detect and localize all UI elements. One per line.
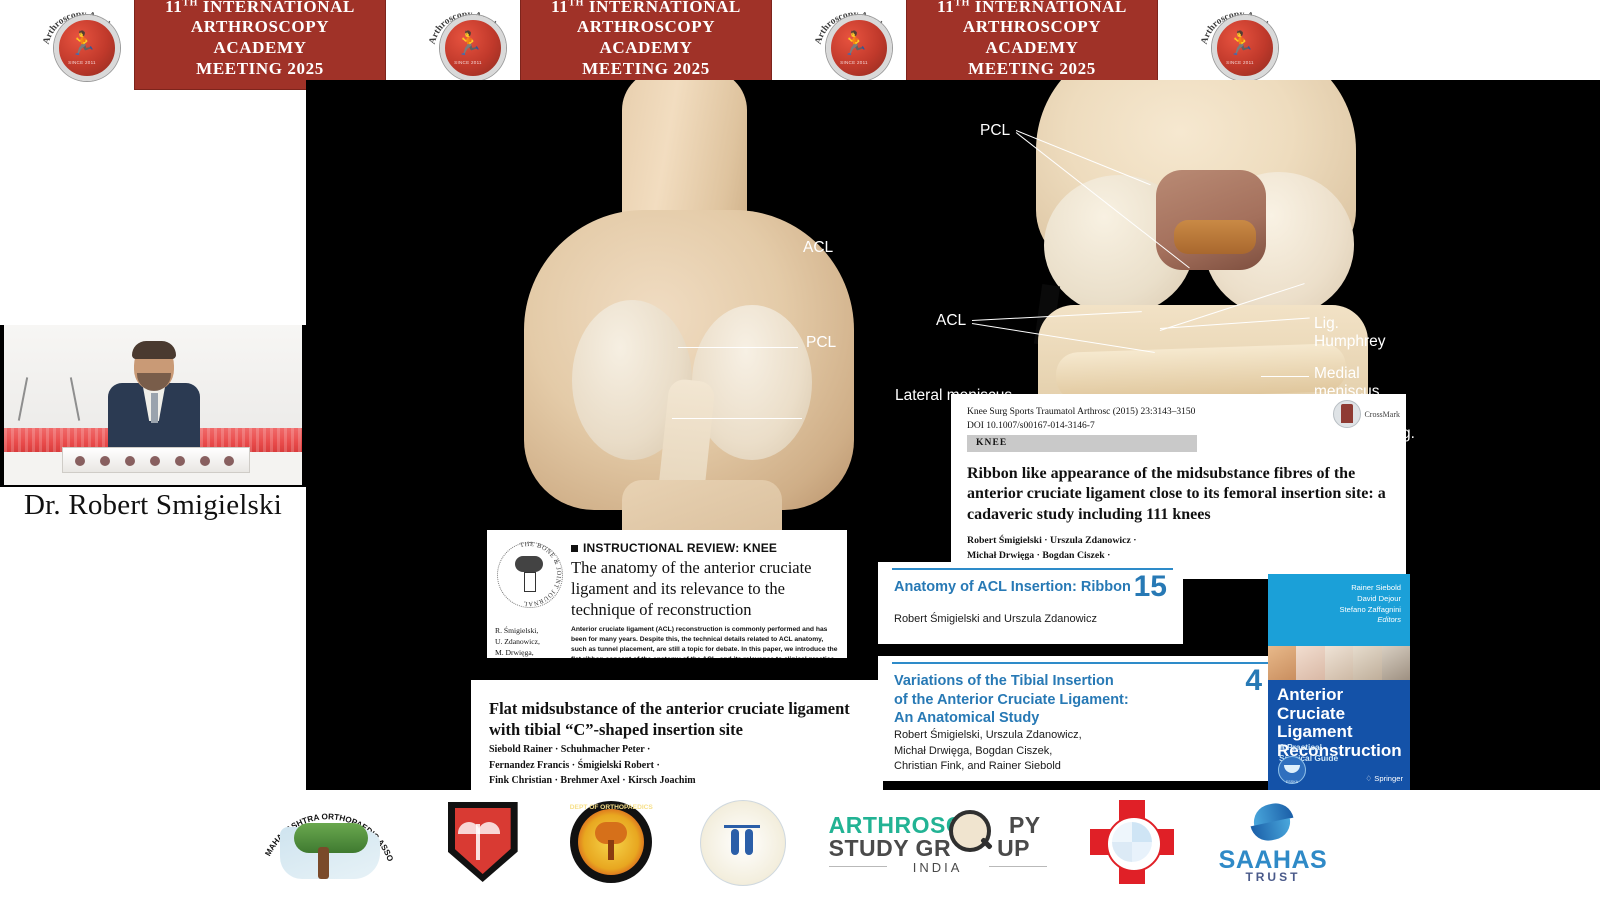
saahas-swirl-icon [1248, 802, 1296, 846]
label-pcl-right: PCL [980, 122, 1010, 140]
podium-logo-row [68, 455, 242, 466]
kssta-authors: Robert Śmigielski · Urszula Zdanowicz · … [967, 534, 1267, 563]
asgi-country: INDIA [829, 860, 1047, 875]
speaker-video-feed[interactable] [4, 325, 302, 485]
bjj-kicker: INSTRUCTIONAL REVIEW: KNEE [571, 541, 777, 555]
bone-joint-journal-logo-icon: THE BONE & JOINT JOURNAL [495, 540, 563, 608]
arthroscopy-academy-logo-icon: Arthroscopy Academy 🏃 SINCE 2011 [1198, 3, 1282, 75]
esska-logo-icon: ESSKA [1278, 756, 1306, 784]
bjj-title: The anatomy of the anterior cruciate lig… [571, 558, 843, 620]
logo-saahas-trust: SAAHAS TRUST [1218, 802, 1328, 882]
logo-red-cross-hospital [1088, 798, 1176, 886]
chapter15-title: Anatomy of ACL Insertion: Ribbon [894, 578, 1131, 597]
label-lig-humphrey: Lig. Humphrey [1314, 315, 1386, 351]
banner-title-2: 11TH INTERNATIONAL ARTHROSCOPY ACADEMY M… [520, 0, 772, 90]
book-editors: Rainer Siebold David Dejour Stefano Zaff… [1340, 583, 1402, 626]
speaker-figure [108, 343, 200, 452]
paper-card-bone-joint-journal[interactable]: THE BONE & JOINT JOURNAL INSTRUCTIONAL R… [487, 530, 847, 658]
chapter15-authors: Robert Śmigielski and Urszula Zdanowicz [894, 612, 1097, 628]
chapter4-title: Variations of the Tibial Insertion of th… [894, 672, 1129, 728]
label-pcl-left: PCL [806, 334, 836, 352]
springer-label: ♢ Springer [1365, 774, 1403, 783]
slide-mask-1 [1180, 569, 1275, 637]
bjj-abstract: Anterior cruciate ligament (ACL) reconst… [571, 625, 839, 658]
saahas-subtitle: TRUST [1218, 870, 1328, 884]
leader-line-medial-meniscus [1261, 376, 1309, 377]
banner-title-3: 11TH INTERNATIONAL ARTHROSCOPY ACADEMY M… [906, 0, 1158, 90]
chapter-card-4[interactable]: Variations of the Tibial Insertion of th… [878, 656, 1278, 781]
banner-unit-1: Arthroscopy Academy 🏃 SINCE 2011 11TH IN… [0, 0, 386, 78]
kssta-meta: Knee Surg Sports Traumatol Arthrosc (201… [967, 405, 1195, 434]
logo-subtext: SINCE 2011 [426, 60, 510, 65]
logo-dept-of-orthopaedics: DEPT OF ORTHOPAEDICS [567, 798, 655, 886]
presentation-screen: Arthroscopy Academy 🏃 SINCE 2011 11TH IN… [0, 0, 1600, 900]
speaker-name-label: Dr. Robert Smigielski [0, 487, 306, 523]
slide-canvas[interactable]: ACL ACL PCL PCL ACL Lateral meniscus Lig… [306, 80, 1600, 790]
logo-osmamer-shield [440, 798, 526, 886]
chapter-rule [892, 662, 1268, 664]
paper-card-flat-midsubstance[interactable]: Flat midsubstance of the anterior crucia… [471, 680, 883, 790]
arthroscopy-academy-logo-icon: Arthroscopy Academy 🏃 SINCE 2011 [812, 3, 896, 75]
magnifier-icon [949, 810, 991, 852]
book-image-strip [1268, 646, 1410, 680]
logo-society-arthroscopy-knee-surgery [697, 797, 787, 887]
chapter-card-15[interactable]: Anatomy of ACL Insertion: Ribbon 15 Robe… [878, 562, 1183, 644]
arthroscopy-academy-logo-icon: Arthroscopy Academy 🏃 SINCE 2011 [426, 3, 510, 75]
chapter15-number: 15 [1134, 570, 1167, 604]
event-banner-strip: Arthroscopy Academy 🏃 SINCE 2011 11TH IN… [0, 0, 1600, 78]
logo-subtext: SINCE 2011 [1198, 60, 1282, 65]
chapter-rule [892, 568, 1173, 570]
book-cover-acl-reconstruction[interactable]: Rainer Siebold David Dejour Stefano Zaff… [1268, 574, 1410, 790]
banner-unit-3: Arthroscopy Academy 🏃 SINCE 2011 11TH IN… [772, 0, 1158, 78]
logo-arthroscopy-study-group-india: ARTHROSCPY STUDY GRUP INDIA [829, 804, 1047, 880]
flat-authors: Siebold Rainer · Schuhmacher Peter · Fer… [489, 742, 874, 789]
logo-subtext: SINCE 2011 [40, 60, 124, 65]
logo-maharashtra-orthopaedic-association: MAHARASHTRA ORTHOPAEDIC ASSOCIATION [258, 797, 398, 887]
crossmark-badge[interactable]: CrossMark [1333, 400, 1400, 428]
leader-line-acl-left [678, 347, 798, 348]
label-acl-left: ACL [803, 239, 833, 257]
esska-label: ESSKA [1279, 780, 1305, 784]
sponsor-logo-bar: MAHARASHTRA ORTHOPAEDIC ASSOCIATION DEPT… [0, 790, 1600, 900]
banner-title-1: 11TH INTERNATIONAL ARTHROSCOPY ACADEMY M… [134, 0, 386, 90]
banner-unit-2: Arthroscopy Academy 🏃 SINCE 2011 11TH IN… [386, 0, 772, 78]
crossmark-icon [1333, 400, 1361, 428]
kssta-title: Ribbon like appearance of the midsubstan… [967, 464, 1397, 525]
speaker-panel[interactable]: Dr. Robert Smigielski [0, 325, 306, 523]
deptorth-arc-text: DEPT OF ORTHOPAEDICS [567, 804, 655, 811]
arthroscopy-academy-logo-icon: Arthroscopy Academy 🏃 SINCE 2011 [40, 3, 124, 75]
paper-card-kssta[interactable]: Knee Surg Sports Traumatol Arthrosc (201… [951, 394, 1406, 579]
chapter4-number: 4 [1245, 664, 1262, 698]
bjj-authors: R. Śmigielski, U. Zdanowicz, M. Drwięga,… [495, 626, 561, 658]
crossmark-label: CrossMark [1364, 410, 1400, 419]
logo-subtext: SINCE 2011 [812, 60, 896, 65]
label-acl-right: ACL [936, 312, 966, 330]
kssta-section-tag: KNEE [967, 435, 1197, 452]
flat-title: Flat midsubstance of the anterior crucia… [489, 698, 874, 741]
leader-line-pcl-left [672, 418, 802, 419]
chapter4-authors: Robert Śmigielski, Urszula Zdanowicz, Mi… [894, 728, 1082, 775]
bullet-square-icon [571, 545, 578, 552]
